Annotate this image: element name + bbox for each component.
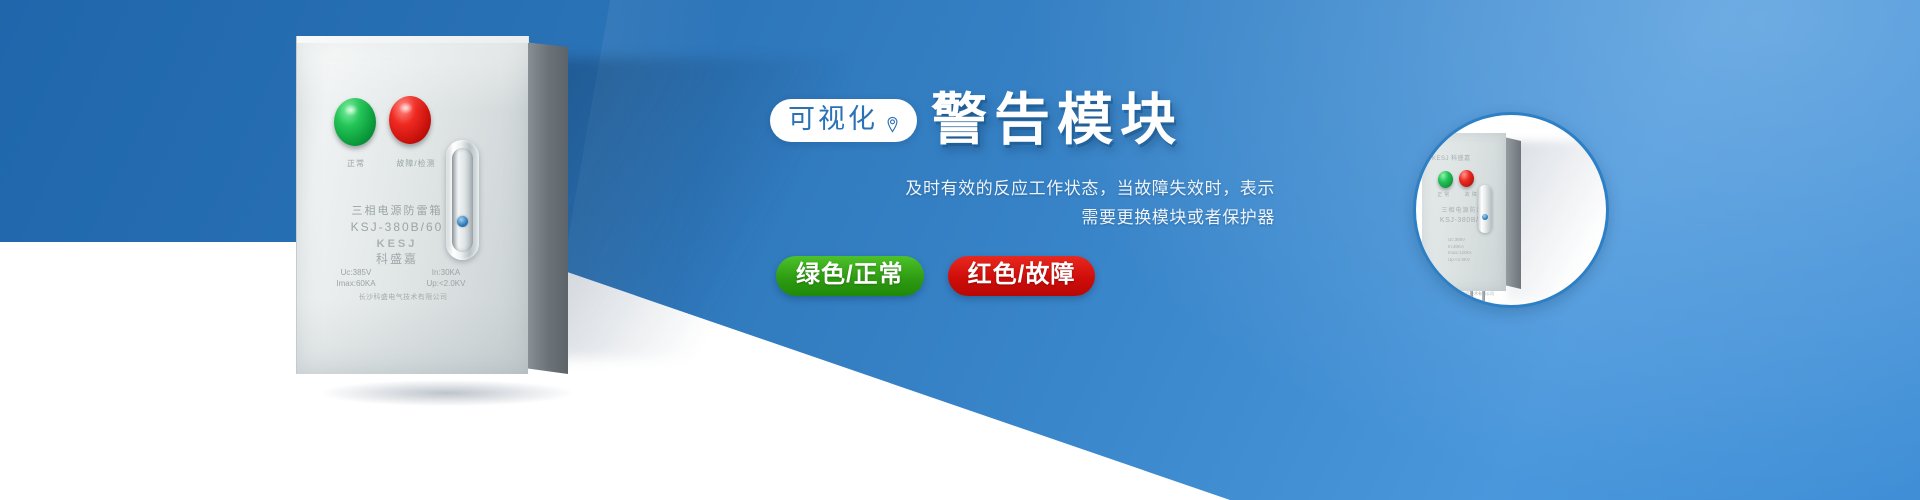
location-pin-icon [884, 111, 901, 128]
handle-inner [452, 148, 473, 252]
indicator-led-green [334, 98, 376, 146]
subtitle-line-1: 及时有效的反应工作状态，当故障失效时，表示 [770, 174, 1275, 203]
label-brand-cn: 科盛嘉 [317, 250, 477, 267]
inset-indicator-led-red [1459, 170, 1474, 187]
label-spec-imax: Imax:60KA [311, 279, 401, 288]
led-green-glass [334, 98, 376, 146]
product-top-edge [297, 36, 529, 43]
inset-conduit-3 [1470, 291, 1473, 305]
inset-side-face [1504, 137, 1521, 289]
inset-content: KESJ 科盛嘉 正常 故障 三相电源防雷箱 KSJ-380B/120 Uc:3… [1416, 115, 1606, 305]
status-badge-normal[interactable]: 绿色/正常 [776, 256, 924, 296]
inset-front-face: KESJ 科盛嘉 正常 故障 三相电源防雷箱 KSJ-380B/120 Uc:3… [1422, 133, 1506, 291]
subtitle-block: 及时有效的反应工作状态，当故障失效时，表示 需要更换模块或者保护器 [770, 174, 1275, 232]
inset-conduit-group [1446, 291, 1486, 305]
label-led-normal: 正常 [328, 158, 384, 169]
page-title: 警告模块 [931, 92, 1183, 148]
label-product-name: 三相电源防雷箱 [317, 202, 477, 218]
inset-cast-shadow [1508, 141, 1609, 301]
inset-label-specs: Uc:385V In:30KA Imax:120kA Up:<2.8KV [1448, 237, 1506, 263]
led-red-glass [389, 96, 431, 144]
subtitle-line-2: 需要更换模块或者保护器 [770, 203, 1275, 232]
product-front-face: 正常 故障/检测 三相电源防雷箱 KSJ-380B/60 KESJ 科盛嘉 Uc… [296, 36, 528, 374]
product-ground-shadow [322, 380, 572, 406]
label-spec-row-2: Imax:60KAUp:<2.0KV [311, 279, 491, 288]
handle-lock-icon [457, 216, 468, 227]
led-red-specular [399, 102, 413, 114]
inset-label-brand: KESJ 科盛嘉 [1428, 153, 1468, 162]
pill-label: 可视化 [788, 106, 878, 133]
product-photo-main: 正常 故障/检测 三相电源防雷箱 KSJ-380B/60 KESJ 科盛嘉 Uc… [296, 36, 568, 374]
inset-door-handle [1478, 185, 1492, 233]
inset-label-model: KSJ-380B/120 [1428, 217, 1504, 224]
inset-conduit-2 [1458, 291, 1461, 305]
status-badge-group: 绿色/正常 红色/故障 [770, 256, 1330, 296]
label-brand-en: KESJ [317, 238, 477, 250]
status-badge-fault[interactable]: 红色/故障 [948, 256, 1096, 296]
visualization-pill-badge: 可视化 [770, 99, 917, 142]
product-photo-inset-circle: KESJ 科盛嘉 正常 故障 三相电源防雷箱 KSJ-380B/120 Uc:3… [1413, 112, 1609, 308]
inset-label-normal: 正常 [1437, 192, 1451, 198]
label-spec-uc: Uc:385V [311, 268, 401, 277]
inset-handle-lock-icon [1482, 214, 1488, 220]
title-row: 可视化 警告模块 [770, 92, 1330, 148]
label-spec-row-1: Uc:385VIn:30KA [311, 268, 491, 277]
product-side-face [524, 42, 568, 374]
inset-conduit-1 [1446, 291, 1449, 305]
inset-conduit-4 [1482, 291, 1485, 305]
cabinet-door-handle [446, 140, 479, 260]
label-led-fault: 故障/检测 [379, 158, 453, 169]
inset-label-name: 三相电源防雷箱 [1428, 205, 1504, 214]
indicator-led-red [389, 96, 431, 144]
led-green-specular [344, 104, 358, 116]
label-company: 长沙科盛电气技术有限公司 [305, 292, 501, 302]
inset-indicator-led-green [1438, 171, 1453, 188]
label-spec-in: In:30KA [401, 268, 491, 277]
copy-block: 可视化 警告模块 及时有效的反应工作状态，当故障失效时，表示 需要更换模块或者保… [770, 92, 1330, 296]
inset-label-fault: 故障 [1465, 192, 1479, 198]
banner-root: 正常 故障/检测 三相电源防雷箱 KSJ-380B/60 KESJ 科盛嘉 Uc… [0, 0, 1920, 500]
label-spec-up: Up:<2.0KV [401, 279, 491, 288]
label-product-model: KSJ-380B/60 [317, 220, 477, 234]
